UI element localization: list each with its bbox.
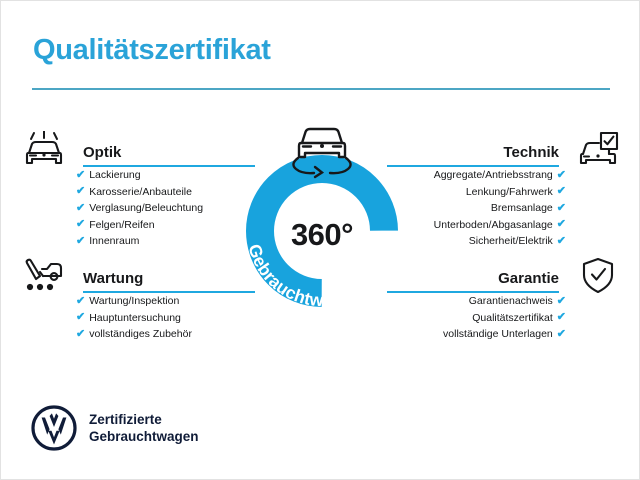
footer-text: Zertifizierte Gebrauchtwagen bbox=[89, 411, 199, 445]
list-item-label: Felgen/Reifen bbox=[89, 217, 154, 234]
vw-logo bbox=[31, 405, 77, 451]
list-item: Sicherheit/Elektrik✔ bbox=[379, 233, 619, 250]
checklist-garantie: Garantienachweis✔ Qualitätszertifikat✔ v… bbox=[379, 293, 619, 343]
list-item: ✔vollständiges Zubehör bbox=[23, 326, 263, 343]
section-header-optik: Optik bbox=[23, 133, 263, 167]
list-item-label: Karosserie/Anbauteile bbox=[89, 184, 192, 201]
section-header-garantie: Garantie bbox=[379, 259, 619, 293]
check-icon: ✔ bbox=[557, 186, 566, 197]
list-item: ✔Karosserie/Anbauteile bbox=[23, 184, 263, 201]
title-divider bbox=[32, 88, 610, 90]
checklist-wartung: ✔Wartung/Inspektion ✔Hauptuntersuchung ✔… bbox=[23, 293, 263, 343]
badge-degrees-label: 360° bbox=[229, 217, 415, 253]
list-item-label: vollständige Unterlagen bbox=[443, 326, 553, 343]
section-optik: Optik ✔Lackierung ✔Karosserie/Anbauteile… bbox=[23, 133, 263, 250]
list-item: Garantienachweis✔ bbox=[379, 293, 619, 310]
section-wartung: Wartung ✔Wartung/Inspektion ✔Hauptunters… bbox=[23, 259, 263, 343]
checklist-optik: ✔Lackierung ✔Karosserie/Anbauteile ✔Verg… bbox=[23, 167, 263, 250]
list-item-label: Wartung/Inspektion bbox=[89, 293, 179, 310]
check-icon: ✔ bbox=[76, 236, 85, 247]
check-icon: ✔ bbox=[557, 203, 566, 214]
list-item-label: Lenkung/Fahrwerk bbox=[466, 184, 553, 201]
footer-line-2: Gebrauchtwagen bbox=[89, 428, 199, 445]
footer-line-1: Zertifizierte bbox=[89, 411, 199, 428]
check-icon: ✔ bbox=[76, 219, 85, 230]
section-garantie: Garantie Garantienachweis✔ Qualitätszert… bbox=[379, 259, 619, 343]
check-icon: ✔ bbox=[557, 219, 566, 230]
list-item-label: Lackierung bbox=[89, 167, 140, 184]
check-icon: ✔ bbox=[76, 170, 85, 181]
list-item: Bremsanlage✔ bbox=[379, 200, 619, 217]
list-item-label: Sicherheit/Elektrik bbox=[469, 233, 553, 250]
list-item: ✔Felgen/Reifen bbox=[23, 217, 263, 234]
list-item: ✔Wartung/Inspektion bbox=[23, 293, 263, 310]
list-item-label: Garantienachweis bbox=[469, 293, 553, 310]
section-technik: Technik Aggregate/Antriebsstrang✔ Lenkun… bbox=[379, 133, 619, 250]
badge-360-gebrauchtwagen-check: Gebrauchtwagen-Check 360° bbox=[229, 125, 415, 311]
section-title: Technik bbox=[503, 144, 559, 161]
check-icon: ✔ bbox=[557, 296, 566, 307]
list-item: ✔Innenraum bbox=[23, 233, 263, 250]
check-icon: ✔ bbox=[76, 203, 85, 214]
list-item-label: Innenraum bbox=[89, 233, 139, 250]
check-icon: ✔ bbox=[557, 170, 566, 181]
section-title: Wartung bbox=[83, 270, 143, 287]
check-icon: ✔ bbox=[557, 312, 566, 323]
section-title: Optik bbox=[83, 144, 121, 161]
check-icon: ✔ bbox=[76, 312, 85, 323]
checklist-technik: Aggregate/Antriebsstrang✔ Lenkung/Fahrwe… bbox=[379, 167, 619, 250]
list-item: Lenkung/Fahrwerk✔ bbox=[379, 184, 619, 201]
check-icon: ✔ bbox=[76, 329, 85, 340]
list-item: Unterboden/Abgasanlage✔ bbox=[379, 217, 619, 234]
list-item: ✔Hauptuntersuchung bbox=[23, 310, 263, 327]
list-item-label: Aggregate/Antriebsstrang bbox=[434, 167, 553, 184]
car-rotate-360-icon bbox=[282, 122, 362, 180]
check-icon: ✔ bbox=[76, 186, 85, 197]
list-item: ✔Verglasung/Beleuchtung bbox=[23, 200, 263, 217]
section-title: Garantie bbox=[498, 270, 559, 287]
list-item-label: Qualitätszertifikat bbox=[472, 310, 553, 327]
list-item-label: Verglasung/Beleuchtung bbox=[89, 200, 203, 217]
list-item: vollständige Unterlagen✔ bbox=[379, 326, 619, 343]
check-icon: ✔ bbox=[76, 296, 85, 307]
list-item-label: Unterboden/Abgasanlage bbox=[434, 217, 553, 234]
section-header-technik: Technik bbox=[379, 133, 619, 167]
certificate-page: Qualitätszertifikat Optik bbox=[0, 0, 640, 480]
footer-brand: Zertifizierte Gebrauchtwagen bbox=[31, 405, 199, 451]
list-item: ✔Lackierung bbox=[23, 167, 263, 184]
list-item: Aggregate/Antriebsstrang✔ bbox=[379, 167, 619, 184]
list-item-label: Hauptuntersuchung bbox=[89, 310, 181, 327]
check-icon: ✔ bbox=[557, 236, 566, 247]
list-item: Qualitätszertifikat✔ bbox=[379, 310, 619, 327]
list-item-label: vollständiges Zubehör bbox=[89, 326, 192, 343]
page-title: Qualitätszertifikat bbox=[33, 34, 271, 67]
list-item-label: Bremsanlage bbox=[491, 200, 553, 217]
section-header-wartung: Wartung bbox=[23, 259, 263, 293]
check-icon: ✔ bbox=[557, 329, 566, 340]
